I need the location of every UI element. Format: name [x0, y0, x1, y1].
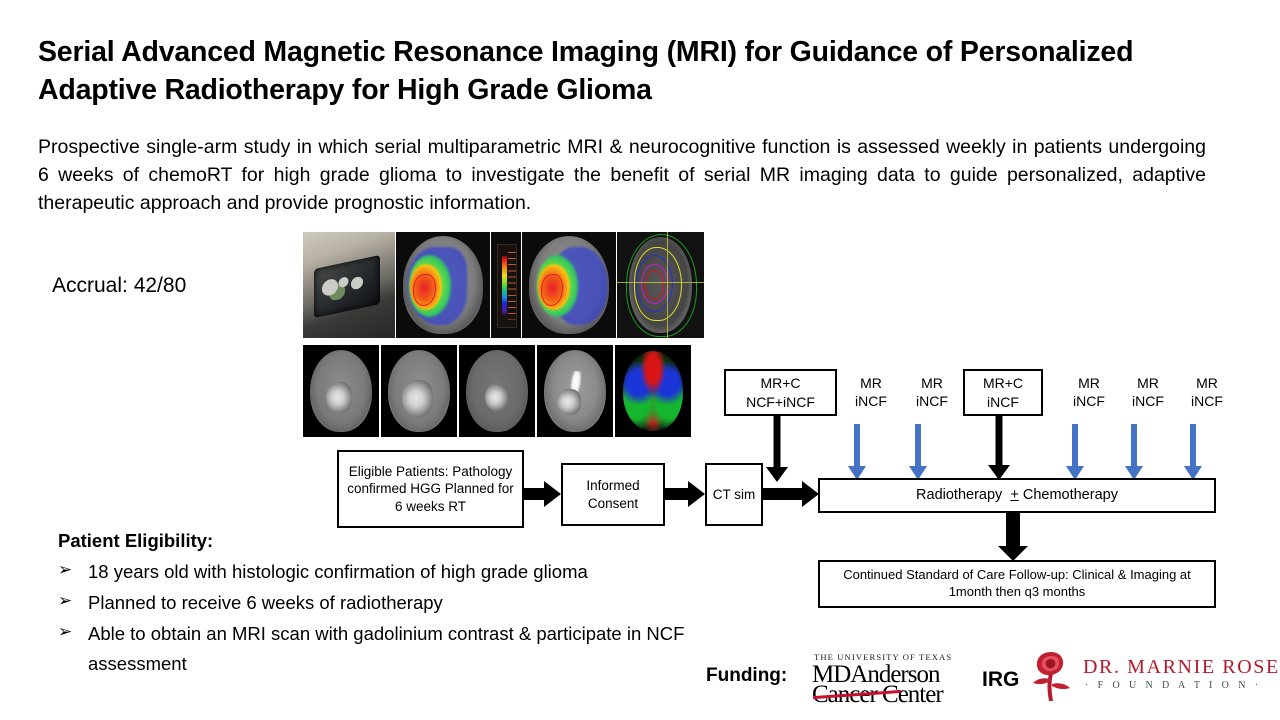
timepoint-label-line2: iNCF	[987, 394, 1019, 410]
timepoint-label-week4: MR iNCF	[1063, 375, 1115, 410]
list-item: Planned to receive 6 weeks of radiothera…	[58, 588, 778, 618]
perfusion-map-axial-2	[522, 232, 616, 338]
mri-adc-map-axial	[537, 345, 613, 437]
timepoint-label-line1: MR	[860, 375, 882, 391]
timepoint-label-week1: MR iNCF	[845, 375, 897, 410]
timepoint-label-line2: iNCF	[1132, 393, 1164, 409]
flow-box-eligible-patients: Eligible Patients: Pathology confirmed H…	[337, 450, 524, 528]
flow-arrow-eligible-to-consent	[524, 481, 561, 507]
timepoint-label-line2: iNCF	[855, 393, 887, 409]
eligibility-list: 18 years old with histologic confirmatio…	[58, 557, 778, 680]
imaging-strip-top	[303, 232, 704, 338]
timepoint-label-line1: MR	[921, 375, 943, 391]
flow-arrow-ctsim-to-radiotherapy	[763, 481, 819, 507]
list-item: Able to obtain an MRI scan with gadolini…	[58, 619, 778, 679]
study-abstract: Prospective single-arm study in which se…	[38, 133, 1206, 217]
eligibility-heading: Patient Eligibility:	[58, 530, 213, 552]
rose-foundation-line2: · F O U N D A T I O N ·	[1085, 680, 1261, 691]
slide-canvas: Serial Advanced Magnetic Resonance Imagi…	[0, 0, 1280, 720]
rose-foundation-line1: DR. MARNIE ROSE	[1083, 656, 1280, 679]
timepoint-label-line2: iNCF	[1191, 393, 1223, 409]
timepoint-label-week2: MR iNCF	[906, 375, 958, 410]
rose-flower-icon	[1025, 648, 1077, 702]
timepoint-box-mid-mrc: MR+C iNCF	[963, 369, 1043, 416]
mri-flair-axial	[459, 345, 535, 437]
timepoint-label-line1: MR+C	[983, 375, 1023, 391]
md-anderson-logo: THE UNIVERSITY OF TEXAS MDAnderson Cance…	[812, 652, 972, 704]
flow-arrow-consent-to-ctsim	[665, 481, 705, 507]
mri-head-coil-photo	[303, 232, 395, 338]
funding-label: Funding:	[706, 665, 787, 687]
timepoint-label-line1: MR	[1196, 375, 1218, 391]
rt-label-post: Chemotherapy	[1023, 486, 1118, 505]
mri-t1-axial	[303, 345, 379, 437]
perfusion-color-scale	[491, 232, 521, 338]
timepoint-label-line1: MR+C	[760, 375, 800, 391]
rt-label-pre: Radiotherapy	[916, 486, 1002, 505]
timepoint-label-line1: MR	[1078, 375, 1100, 391]
timepoint-label-line2: iNCF	[1073, 393, 1105, 409]
flow-box-followup: Continued Standard of Care Follow-up: Cl…	[818, 560, 1216, 608]
timepoint-label-week5: MR iNCF	[1122, 375, 1174, 410]
dose-contour-ct-axial	[617, 232, 704, 338]
plus-minus-symbol: +	[1010, 486, 1018, 505]
timepoint-label-week6: MR iNCF	[1181, 375, 1233, 410]
flow-box-informed-consent: Informed Consent	[561, 463, 665, 526]
dti-color-fa-map-axial	[615, 345, 691, 437]
flow-box-ct-sim: CT sim	[705, 463, 763, 526]
timepoint-label-line2: iNCF	[916, 393, 948, 409]
imaging-strip-bottom	[303, 345, 691, 437]
timepoint-box-baseline-mrc: MR+C NCF+iNCF	[724, 369, 837, 416]
list-item: 18 years old with histologic confirmatio…	[58, 557, 778, 587]
mri-t1-post-contrast-axial	[381, 345, 457, 437]
accrual-status: Accrual: 42/80	[52, 274, 186, 298]
perfusion-map-axial-1	[396, 232, 490, 338]
page-title: Serial Advanced Magnetic Resonance Imagi…	[38, 34, 1158, 109]
timepoint-label-line1: MR	[1137, 375, 1159, 391]
irg-label: IRG	[982, 668, 1019, 692]
timepoint-label-line2: NCF+iNCF	[746, 394, 815, 410]
flow-box-radiotherapy-chemotherapy: Radiotherapy + Chemotherapy	[818, 478, 1216, 513]
marnie-rose-foundation-logo: DR. MARNIE ROSE · F O U N D A T I O N ·	[1025, 648, 1275, 706]
